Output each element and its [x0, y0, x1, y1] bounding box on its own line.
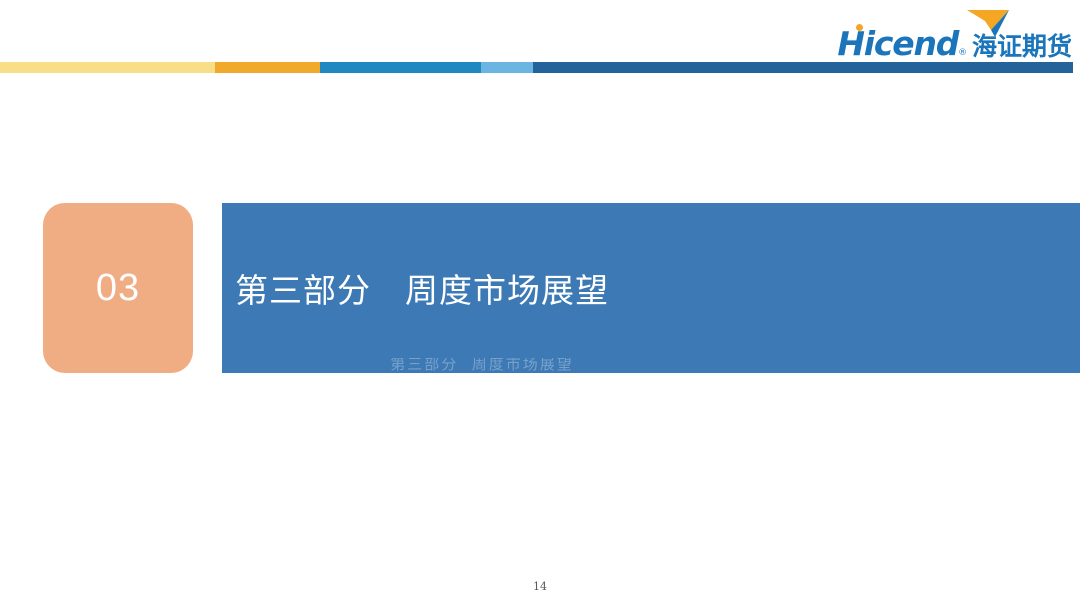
logo-inner: Hicend® 海证期货 — [837, 27, 1072, 60]
color-bar-segment-medium-blue — [320, 62, 481, 73]
color-bar-segment-light-blue — [481, 62, 533, 73]
color-bar-segment-dark-blue — [533, 62, 1073, 73]
color-bar-segment-light-yellow — [0, 62, 215, 73]
brand-logo: Hicend® 海证期货 — [834, 12, 1072, 60]
slide: Hicend® 海证期货 03 第三部分 周度市场展望 第三部分 周度市场展望 … — [0, 0, 1080, 607]
color-bar-segment-orange — [215, 62, 320, 73]
registered-mark-icon: ® — [958, 48, 966, 58]
header-color-bar — [0, 62, 1073, 73]
arrow-swoosh-icon — [965, 8, 1013, 38]
logo-wordmark: Hicend® — [837, 27, 966, 60]
section-title-banner: 第三部分 周度市场展望 — [222, 203, 1080, 373]
section-number-tile: 03 — [43, 203, 193, 373]
logo-wordmark-text: Hicend — [837, 24, 958, 63]
section-title: 第三部分 周度市场展望 — [222, 264, 609, 312]
page-number: 14 — [0, 580, 1080, 593]
section-number: 03 — [96, 267, 140, 310]
